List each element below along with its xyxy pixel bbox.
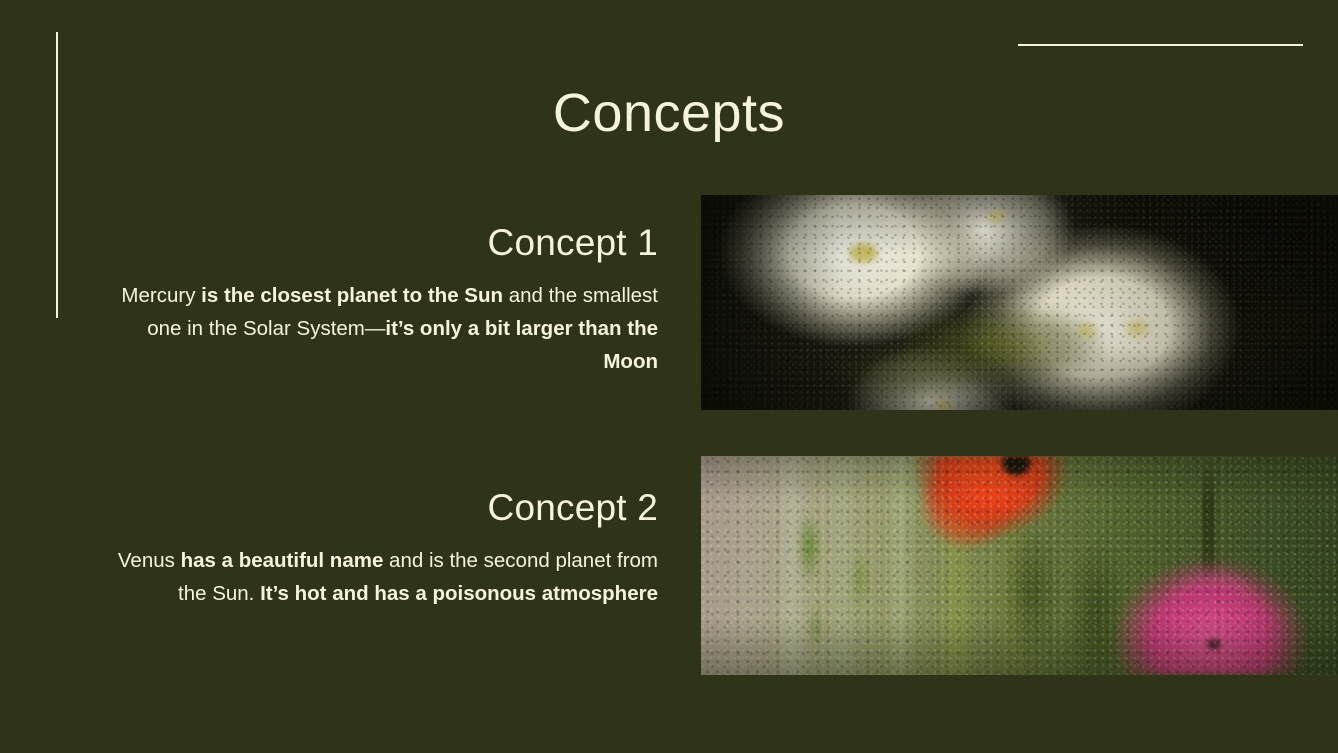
concept-2-heading: Concept 2 bbox=[100, 487, 658, 530]
photo-2-vignette-layer bbox=[701, 456, 1338, 675]
concept-2-image bbox=[701, 456, 1338, 675]
concept-1-image bbox=[701, 195, 1338, 410]
presentation-slide: Concepts Concept 1 Mercury is the closes… bbox=[0, 0, 1338, 753]
concept-block-2: Concept 2 Venus has a beautiful name and… bbox=[100, 487, 658, 610]
vertical-accent-rule bbox=[56, 32, 58, 318]
horizontal-accent-rule bbox=[1018, 44, 1303, 46]
concept-block-1: Concept 1 Mercury is the closest planet … bbox=[100, 222, 658, 379]
concept-1-heading: Concept 1 bbox=[100, 222, 658, 265]
photo-1-vignette-layer bbox=[701, 195, 1338, 410]
concept-1-body: Mercury is the closest planet to the Sun… bbox=[100, 279, 658, 379]
concept-2-body: Venus has a beautiful name and is the se… bbox=[100, 544, 658, 611]
page-title: Concepts bbox=[0, 84, 1338, 143]
